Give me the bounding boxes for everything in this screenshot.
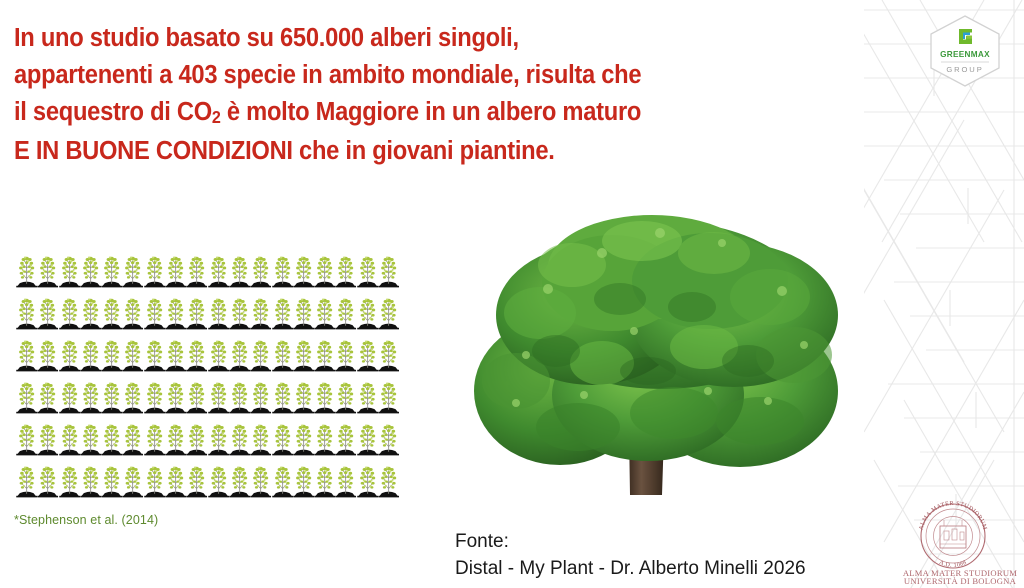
young-sapling-icon — [122, 332, 143, 374]
greenmax-wordmark: GREENMAX — [940, 50, 990, 59]
young-sapling-icon — [250, 458, 271, 500]
young-sapling-icon — [16, 248, 37, 290]
young-sapling-icon — [165, 416, 186, 458]
young-sapling-icon — [165, 290, 186, 332]
young-sapling-icon — [122, 248, 143, 290]
young-sapling-icon — [229, 248, 250, 290]
slide-canvas: In uno studio basato su 650.000 alberi s… — [0, 0, 1024, 588]
headline-line-2: appartenenti a 403 specie in ambito mond… — [14, 57, 665, 94]
young-sapling-icon — [144, 374, 165, 416]
young-sapling-icon — [272, 416, 293, 458]
young-sapling-icon — [272, 248, 293, 290]
headline-line-3-prefix: il sequestro di CO — [14, 98, 212, 126]
co2-subscript: 2 — [212, 107, 221, 127]
young-sapling-icon — [272, 332, 293, 374]
young-sapling-icon — [229, 290, 250, 332]
young-sapling-icon — [272, 374, 293, 416]
young-sapling-icon — [293, 332, 314, 374]
young-sapling-icon — [122, 374, 143, 416]
young-sapling-icon — [357, 290, 378, 332]
young-sapling-icon — [80, 248, 101, 290]
young-sapling-icon — [165, 374, 186, 416]
young-sapling-icon — [37, 374, 58, 416]
young-sapling-icon — [314, 374, 335, 416]
young-sapling-icon — [250, 290, 271, 332]
young-sapling-icon — [59, 248, 80, 290]
young-sapling-icon — [16, 458, 37, 500]
young-sapling-icon — [16, 374, 37, 416]
young-sapling-icon — [165, 458, 186, 500]
young-sapling-icon — [80, 290, 101, 332]
young-sapling-icon — [101, 290, 122, 332]
young-sapling-icon — [101, 248, 122, 290]
young-sapling-icon — [122, 458, 143, 500]
young-sapling-icon — [186, 458, 207, 500]
young-sapling-icon — [229, 416, 250, 458]
young-sapling-icon — [357, 248, 378, 290]
young-sapling-icon — [144, 248, 165, 290]
young-sapling-icon — [378, 416, 399, 458]
young-sapling-icon — [80, 332, 101, 374]
young-sapling-icon — [293, 458, 314, 500]
young-sapling-icon — [293, 374, 314, 416]
young-sapling-icon — [314, 290, 335, 332]
young-sapling-icon — [122, 290, 143, 332]
young-sapling-icon — [250, 248, 271, 290]
young-sapling-icon — [16, 332, 37, 374]
source-label: Fonte: — [455, 528, 806, 555]
young-sapling-icon — [229, 374, 250, 416]
young-sapling-icon — [37, 416, 58, 458]
source-caption: Fonte: Distal - My Plant - Dr. Alberto M… — [455, 528, 806, 582]
young-sapling-icon — [80, 374, 101, 416]
young-sapling-icon — [144, 332, 165, 374]
unibo-seal: ALMA MATER STUDIORUM A.D. 1088 ALMA MATE… — [898, 496, 1022, 584]
young-sapling-icon — [335, 416, 356, 458]
young-sapling-icon — [314, 332, 335, 374]
young-sapling-icon — [335, 248, 356, 290]
young-sapling-icon — [250, 416, 271, 458]
young-sapling-icon — [378, 248, 399, 290]
young-sapling-icon — [208, 374, 229, 416]
young-sapling-icon — [101, 374, 122, 416]
young-sapling-icon — [335, 290, 356, 332]
young-sapling-icon — [335, 332, 356, 374]
headline-line-3: il sequestro di CO2 è molto Maggiore in … — [14, 94, 665, 133]
young-sapling-icon — [208, 290, 229, 332]
young-sapling-icon — [37, 458, 58, 500]
young-sapling-icon — [357, 458, 378, 500]
young-sapling-icon — [272, 458, 293, 500]
greenmax-subtitle: GROUP — [946, 65, 983, 74]
young-sapling-icon — [144, 458, 165, 500]
headline-block: In uno studio basato su 650.000 alberi s… — [14, 20, 714, 170]
young-sapling-icon — [186, 290, 207, 332]
young-sapling-icon — [335, 374, 356, 416]
young-sapling-icon — [208, 248, 229, 290]
young-sapling-icon — [293, 248, 314, 290]
young-sapling-icon — [37, 248, 58, 290]
young-sapling-icon — [208, 458, 229, 500]
young-sapling-icon — [357, 374, 378, 416]
young-sapling-icon — [378, 374, 399, 416]
young-sapling-icon — [59, 416, 80, 458]
young-sapling-icon — [144, 416, 165, 458]
young-sapling-icon — [293, 416, 314, 458]
young-sapling-icon — [165, 248, 186, 290]
young-sapling-icon — [314, 416, 335, 458]
young-sapling-icon — [59, 290, 80, 332]
young-sapling-icon — [80, 416, 101, 458]
young-sapling-icon — [250, 332, 271, 374]
unibo-ring-top: ALMA MATER STUDIORUM — [919, 501, 988, 531]
young-sapling-icon — [250, 374, 271, 416]
headline-line-4: E IN BUONE CONDIZIONI che in giovani pia… — [14, 133, 665, 170]
young-sapling-icon — [229, 332, 250, 374]
mature-tree-photo — [452, 195, 852, 525]
young-sapling-icon — [208, 416, 229, 458]
young-sapling-icon — [293, 290, 314, 332]
young-sapling-icon — [357, 416, 378, 458]
young-sapling-icon — [37, 332, 58, 374]
young-sapling-icon — [357, 332, 378, 374]
young-sapling-icon — [101, 458, 122, 500]
unibo-crest: ALMA MATER STUDIORUM A.D. 1088 — [919, 501, 988, 569]
young-sapling-icon — [335, 458, 356, 500]
sapling-pictogram-grid — [16, 248, 400, 500]
young-sapling-icon — [378, 332, 399, 374]
young-sapling-icon — [272, 290, 293, 332]
young-sapling-icon — [59, 458, 80, 500]
young-sapling-icon — [16, 290, 37, 332]
young-sapling-icon — [59, 374, 80, 416]
young-sapling-icon — [314, 458, 335, 500]
headline-line-1: In uno studio basato su 650.000 alberi s… — [14, 20, 665, 57]
young-sapling-icon — [186, 332, 207, 374]
young-sapling-icon — [186, 248, 207, 290]
young-sapling-icon — [186, 374, 207, 416]
young-sapling-icon — [122, 416, 143, 458]
young-sapling-icon — [16, 416, 37, 458]
headline-line-3-suffix: è molto Maggiore in un albero maturo — [221, 98, 642, 126]
young-sapling-icon — [59, 332, 80, 374]
unibo-caption-line2: UNIVERSITÀ DI BOLOGNA — [904, 576, 1017, 584]
young-sapling-icon — [208, 332, 229, 374]
young-sapling-icon — [101, 332, 122, 374]
footnote-citation: *Stephenson et al. (2014) — [14, 513, 158, 527]
source-text: Distal - My Plant - Dr. Alberto Minelli … — [455, 555, 806, 582]
young-sapling-icon — [378, 290, 399, 332]
young-sapling-icon — [229, 458, 250, 500]
young-sapling-icon — [165, 332, 186, 374]
young-sapling-icon — [144, 290, 165, 332]
greenmax-logo: GREENMAX GROUP — [926, 14, 1004, 88]
young-sapling-icon — [101, 416, 122, 458]
young-sapling-icon — [378, 458, 399, 500]
young-sapling-icon — [37, 290, 58, 332]
young-sapling-icon — [186, 416, 207, 458]
young-sapling-icon — [80, 458, 101, 500]
young-sapling-icon — [314, 248, 335, 290]
